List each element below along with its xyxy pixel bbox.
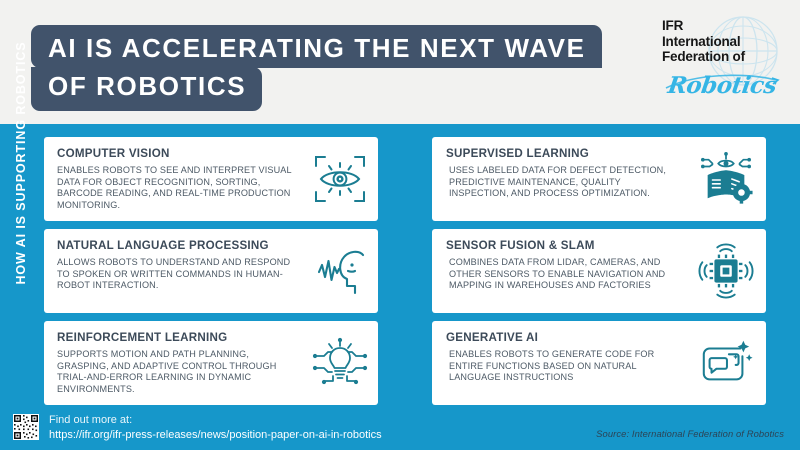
head-soundwave-icon [311,242,369,300]
ifr-logo-line-2: International [662,34,745,50]
ifr-logo: IFR International Federation of Robotics [662,12,782,100]
page-title: AI IS ACCELERATING THE NEXT WAVE OF ROBO… [31,25,602,111]
card-sensor-fusion-slam[interactable]: SENSOR FUSION & SLAM COMBINES DATA FROM … [432,229,766,313]
find-out-more-label: Find out more at: [49,413,382,428]
card-supervised-learning[interactable]: SUPERVISED LEARNING USES LABELED DATA FO… [432,137,766,221]
source-credit: Source: International Federation of Robo… [596,428,784,439]
card-body: ENABLES ROBOTS TO GENERATE CODE FOR ENTI… [446,349,678,384]
ifr-logo-script: Robotics [666,72,778,99]
book-eye-gear-icon [698,151,754,207]
card-body: ALLOWS ROBOTS TO UNDERSTAND AND RESPOND … [57,257,293,292]
qr-code-icon[interactable] [13,414,39,440]
card-body: COMBINES DATA FROM LIDAR, CAMERAS, AND O… [446,257,678,292]
ifr-logo-line-1: IFR [662,18,745,34]
footer: Find out more at: https://ifr.org/ifr-pr… [0,406,800,450]
card-body: ENABLES ROBOTS TO SEE AND INTERPRET VISU… [57,165,293,211]
cards-column-right: SUPERVISED LEARNING USES LABELED DATA FO… [432,137,766,413]
lightbulb-circuit-icon [311,334,369,392]
card-body: USES LABELED DATA FOR DEFECT DETECTION, … [446,165,678,200]
sidebar-vertical-label: HOW AI IS SUPPORTING ROBOTICS [10,34,32,292]
eye-scan-icon [311,150,369,208]
card-body: SUPPORTS MOTION AND PATH PLANNING, GRASP… [57,349,293,395]
cards-column-left: COMPUTER VISION ENABLES ROBOTS TO SEE AN… [44,137,378,413]
chat-sparkle-icon [698,335,754,391]
footer-link-text[interactable]: Find out more at: https://ifr.org/ifr-pr… [49,413,382,442]
card-natural-language-processing[interactable]: NATURAL LANGUAGE PROCESSING ALLOWS ROBOT… [44,229,378,313]
card-computer-vision[interactable]: COMPUTER VISION ENABLES ROBOTS TO SEE AN… [44,137,378,221]
card-reinforcement-learning[interactable]: REINFORCEMENT LEARNING SUPPORTS MOTION A… [44,321,378,405]
ifr-logo-line-3: Federation of [662,49,745,65]
page-title-line-2: OF ROBOTICS [31,67,262,111]
chip-signal-icon [698,243,754,299]
header: AI IS ACCELERATING THE NEXT WAVE OF ROBO… [0,0,800,124]
page-title-line-1: AI IS ACCELERATING THE NEXT WAVE [31,25,602,68]
card-generative-ai[interactable]: GENERATIVE AI ENABLES ROBOTS TO GENERATE… [432,321,766,405]
footer-url[interactable]: https://ifr.org/ifr-press-releases/news/… [49,428,382,443]
ifr-logo-text: IFR International Federation of [662,18,745,65]
